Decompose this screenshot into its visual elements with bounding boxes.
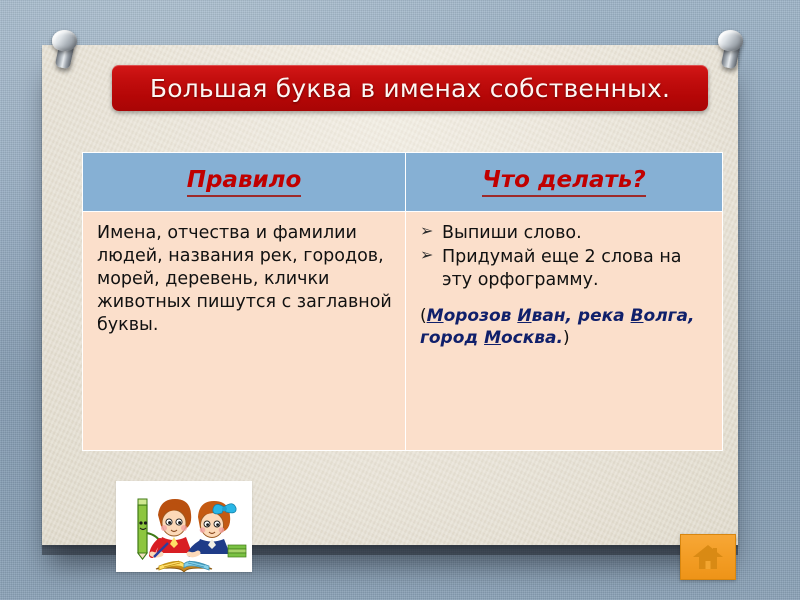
page-title: Большая буква в именах собственных.: [150, 76, 670, 101]
example-close-paren: ): [563, 328, 570, 348]
clipart-illustration: [116, 481, 252, 572]
example-capital: М: [427, 306, 444, 326]
example-rest: ван, река: [532, 306, 631, 326]
table-header-rule: Правило: [83, 153, 406, 212]
paper-sheet: Большая буква в именах собственных. Прав…: [42, 45, 738, 545]
example-open-paren: (: [420, 306, 427, 326]
table-header-row: Правило Что делать?: [83, 153, 723, 212]
table-cell-rule: Имена, отчества и фамилии людей, названи…: [83, 212, 406, 451]
todo-list: ➢ Выпиши слово. ➢ Придумай еще 2 слова н…: [420, 222, 710, 291]
example-rest: осква.: [501, 328, 563, 348]
example-text: (Морозов Иван, река Волга, город Москва.…: [420, 305, 710, 349]
table-header-todo: Что делать?: [406, 153, 723, 212]
example-rest: орозов: [444, 306, 518, 326]
list-item: ➢ Придумай еще 2 слова на эту орфограмму…: [420, 246, 710, 292]
home-icon: [692, 543, 724, 571]
children-reading-book-clipart: [116, 481, 252, 572]
rule-table: Правило Что делать? Имена, отчества и фа…: [82, 152, 723, 451]
table-cell-todo: ➢ Выпиши слово. ➢ Придумай еще 2 слова н…: [406, 212, 723, 451]
rule-description-text: Имена, отчества и фамилии людей, названи…: [97, 222, 393, 337]
push-pin-left: [48, 30, 82, 70]
example-capital: М: [484, 328, 501, 348]
list-item: ➢ Выпиши слово.: [420, 222, 710, 245]
arrow-bullet-icon: ➢: [420, 245, 433, 266]
list-item-label: Выпиши слово.: [442, 223, 582, 243]
list-item-label: Придумай еще 2 слова на эту орфограмму.: [442, 247, 682, 290]
table-header-rule-label: Правило: [187, 167, 302, 196]
example-capital: И: [517, 306, 531, 326]
arrow-bullet-icon: ➢: [420, 221, 433, 242]
table-row: Имена, отчества и фамилии людей, названи…: [83, 212, 723, 451]
example-capital: В: [631, 306, 644, 326]
home-button[interactable]: [680, 534, 736, 580]
pin-head: [52, 30, 77, 51]
push-pin-right: [714, 30, 748, 70]
example-words: Морозов Иван, река Волга, город Москва.: [420, 306, 694, 348]
slide-title-banner: Большая буква в именах собственных.: [112, 65, 708, 111]
pin-head: [718, 30, 743, 51]
table-header-todo-label: Что делать?: [482, 167, 645, 196]
